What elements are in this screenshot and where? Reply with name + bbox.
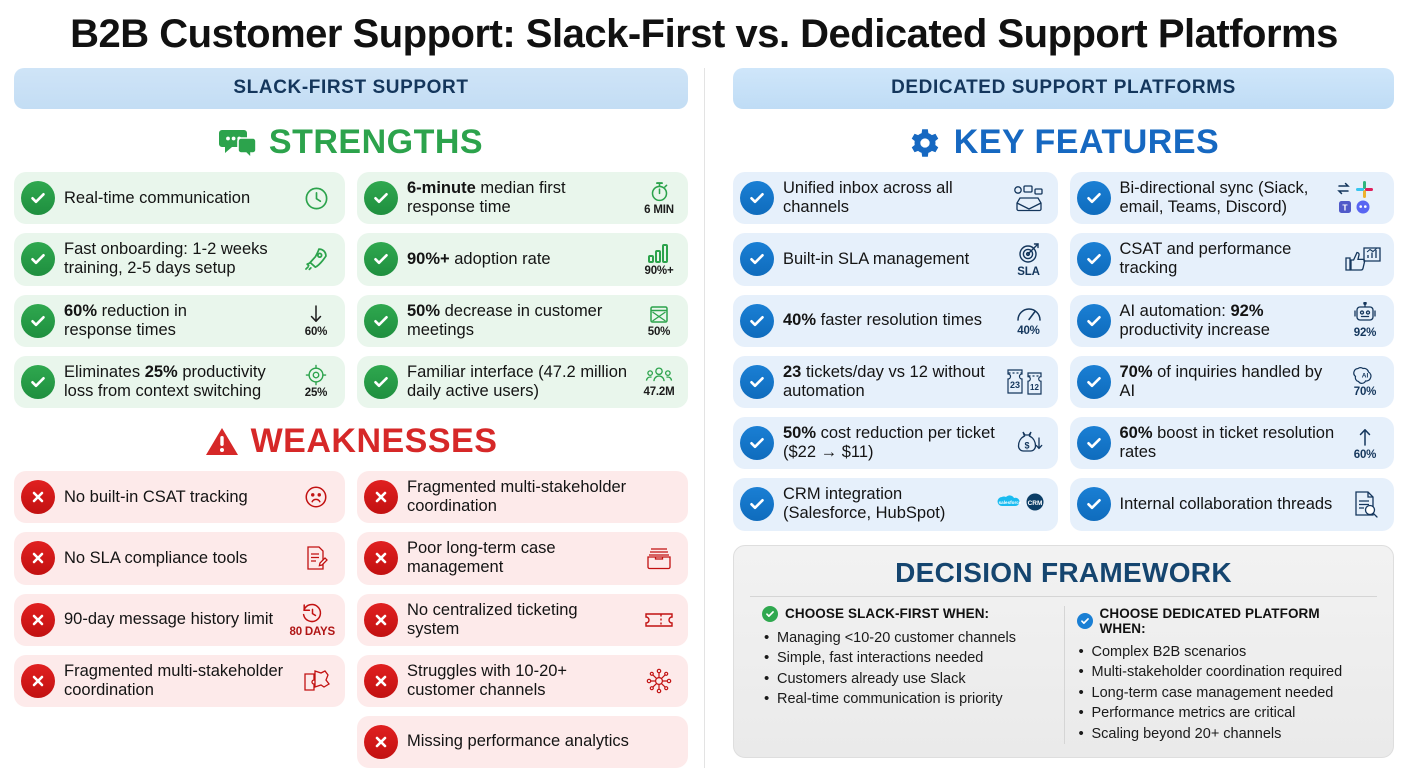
list-item: Bi-directional sync (Siack, email, Teams…: [1070, 172, 1395, 224]
check-circle-icon: [1077, 181, 1111, 215]
features-grid: Unified inbox across all channels Bi-dir…: [733, 172, 1394, 531]
list-item: Long-term case management needed: [1077, 683, 1366, 704]
network-hub-icon: [640, 668, 678, 694]
item-text: Built-in SLA management: [783, 250, 1001, 269]
puzzle-map-icon: [297, 668, 335, 694]
decision-framework-title: DECISION FRAMEWORK: [750, 557, 1377, 596]
decision-column-slack: CHOOSE SLACK-FIRST WHEN: Managing <10-20…: [750, 606, 1064, 745]
up-arrow-icon: 60%: [1346, 426, 1384, 461]
check-circle-icon: [740, 242, 774, 276]
sad-face-icon: [297, 484, 335, 510]
item-text: No centralized ticketing system: [407, 601, 631, 639]
item-text: 60% reduction inresponse times: [64, 302, 288, 340]
check-circle-icon: [740, 181, 774, 215]
x-circle-icon: [364, 603, 398, 637]
icon-label: 60%: [305, 326, 327, 338]
item-text: Missing performance analytics: [407, 732, 678, 751]
list-item: 50% decrease in customer meetings 50%: [357, 295, 688, 347]
item-text: Struggles with 10-20+ customer channels: [407, 662, 631, 700]
check-circle-icon: [740, 365, 774, 399]
money-bag-down-icon: $: [1010, 430, 1048, 456]
item-text: CSAT and performance tracking: [1120, 240, 1334, 278]
icon-label: SLA: [1017, 266, 1039, 278]
x-circle-icon: [364, 480, 398, 514]
check-circle-icon: [21, 365, 55, 399]
target-arrow-icon: SLA: [1010, 241, 1048, 278]
decision-head-label: CHOOSE SLACK-FIRST WHEN:: [785, 606, 989, 621]
list-item: Poor long-term case management: [357, 532, 688, 584]
list-item: Performance metrics are critical: [1077, 703, 1366, 724]
item-text: Poor long-term case management: [407, 539, 631, 577]
icon-label: 25%: [305, 387, 327, 399]
decision-head-slack: CHOOSE SLACK-FIRST WHEN:: [762, 606, 1052, 622]
two-column-layout: SLACK-FIRST SUPPORT STRENGTHS: [0, 68, 1408, 768]
strengths-label: STRENGTHS: [269, 123, 483, 162]
page-title: B2B Customer Support: Slack-First vs. De…: [0, 0, 1408, 56]
file-box-icon: [640, 546, 678, 570]
x-circle-icon: [21, 541, 55, 575]
check-circle-icon: [21, 304, 55, 338]
item-text: 50% cost reduction per ticket ($22 → $11…: [783, 424, 1001, 462]
list-item: Fragmented multi-stakeholder coordinatio…: [14, 655, 345, 707]
list-item: AI automation: 92% productivity increase…: [1070, 295, 1395, 347]
check-circle-icon: [740, 487, 774, 521]
clock-icon: [297, 185, 335, 212]
x-circle-icon: [364, 725, 398, 759]
svg-text:T: T: [1342, 203, 1348, 213]
list-item: Missing performance analytics: [357, 716, 688, 768]
check-circle-icon: [1077, 365, 1111, 399]
svg-text:salesforce: salesforce: [998, 500, 1021, 505]
x-circle-icon: [364, 541, 398, 575]
svg-text:23: 23: [1009, 380, 1019, 390]
icon-label: 70%: [1354, 386, 1376, 398]
strengths-grid: Real-time communication 6-minute median …: [14, 172, 688, 408]
list-item: Unified inbox across all channels: [733, 172, 1058, 224]
gear-icon: [908, 126, 942, 160]
strengths-section-title: STRENGTHS: [14, 123, 688, 162]
item-text: 90%+ adoption rate: [407, 250, 631, 269]
list-item: Managing <10-20 customer channels: [762, 628, 1052, 649]
stopwatch-icon: 6 MIN: [640, 180, 678, 216]
ai-brain-icon: AI 70%: [1346, 365, 1384, 398]
check-circle-icon: [1077, 426, 1111, 460]
inbox-envelope-icon: [1010, 184, 1048, 212]
calendar-cross-icon: 50%: [640, 303, 678, 338]
right-column-dedicated: DEDICATED SUPPORT PLATFORMS KEY FEATURES: [704, 68, 1394, 768]
list-item: Struggles with 10-20+ customer channels: [357, 655, 688, 707]
warning-triangle-icon: [205, 426, 239, 457]
list-item: Internal collaboration threads: [1070, 478, 1395, 530]
item-text: Bi-directional sync (Siack, email, Teams…: [1120, 179, 1328, 217]
item-text: 90-day message history limit: [64, 610, 281, 629]
check-circle-icon: [364, 365, 398, 399]
document-search-icon: [1346, 490, 1384, 518]
x-circle-icon: [21, 603, 55, 637]
list-item: CRM integration (Salesforce, HubSpot) sa…: [733, 478, 1058, 530]
svg-text:CRM: CRM: [1027, 500, 1042, 507]
check-circle-icon: [364, 304, 398, 338]
speedometer-icon: 40%: [1010, 304, 1048, 337]
item-text: Fragmented multi-stakeholder coordinatio…: [64, 662, 288, 700]
item-text: 70% of inquiries handled by AI: [1120, 363, 1338, 401]
decision-column-dedicated: CHOOSE DEDICATED PLATFORM WHEN: Complex …: [1064, 606, 1378, 745]
list-item: Familiar interface (47.2 million daily a…: [357, 356, 688, 408]
check-circle-icon: [762, 606, 778, 622]
list-item: 23 tickets/day vs 12 without automation …: [733, 356, 1058, 408]
decision-columns: CHOOSE SLACK-FIRST WHEN: Managing <10-20…: [750, 606, 1377, 745]
x-circle-icon: [21, 480, 55, 514]
list-item: Eliminates 25% productivity loss from co…: [14, 356, 345, 408]
item-text: 23 tickets/day vs 12 without automation: [783, 363, 995, 401]
icon-label: 90%+: [645, 265, 674, 277]
list-item: 90%+ adoption rate 90%+: [357, 233, 688, 285]
item-text: Real-time communication: [64, 189, 288, 208]
right-panel-header: DEDICATED SUPPORT PLATFORMS: [733, 68, 1394, 109]
list-item: 60% boost in ticket resolution rates 60%: [1070, 417, 1395, 469]
divider: [750, 596, 1377, 597]
list-item: Scaling beyond 20+ channels: [1077, 724, 1366, 745]
check-circle-icon: [740, 304, 774, 338]
document-pencil-icon: [297, 544, 335, 572]
list-item: 90-day message history limit 80 DAYS: [14, 594, 345, 646]
bar-chart-icon: 90%+: [640, 242, 678, 277]
features-section-title: KEY FEATURES: [733, 123, 1394, 162]
infographic-page: B2B Customer Support: Slack-First vs. De…: [0, 0, 1408, 768]
icon-label: 47.2M: [644, 386, 675, 398]
robot-icon: 92%: [1346, 302, 1384, 339]
svg-text:12: 12: [1030, 383, 1039, 392]
list-item: 60% reduction inresponse times 60%: [14, 295, 345, 347]
check-circle-icon: [1077, 487, 1111, 521]
item-text: No built-in CSAT tracking: [64, 488, 288, 507]
list-item: No centralized ticketing system: [357, 594, 688, 646]
decision-list-dedicated: Complex B2B scenarios Multi-stakeholder …: [1077, 642, 1366, 745]
check-circle-icon: [364, 181, 398, 215]
icon-label: 6 MIN: [644, 204, 674, 216]
item-text: Fast onboarding: 1-2 weeks training, 2-5…: [64, 240, 288, 278]
ticket-icon: [640, 610, 678, 630]
decision-list-slack: Managing <10-20 customer channels Simple…: [762, 628, 1052, 710]
item-text: Internal collaboration threads: [1120, 495, 1338, 514]
icon-label: 92%: [1354, 327, 1376, 339]
users-group-icon: 47.2M: [640, 365, 678, 398]
item-text: Eliminates 25% productivity loss from co…: [64, 363, 288, 401]
list-item: No SLA compliance tools: [14, 532, 345, 584]
list-item: Built-in SLA management SLA: [733, 233, 1058, 285]
item-text: 6-minute median first response time: [407, 179, 631, 217]
x-circle-icon: [364, 664, 398, 698]
target-icon: 25%: [297, 364, 335, 399]
list-item: CSAT and performance tracking: [1070, 233, 1395, 285]
sync-apps-icon: T: [1336, 180, 1384, 216]
list-item: Complex B2B scenarios: [1077, 642, 1366, 663]
icon-label: 40%: [1017, 325, 1039, 337]
icon-label: 80 DAYS: [290, 626, 335, 638]
check-circle-icon: [1077, 242, 1111, 276]
list-item: Fragmented multi-stakeholder coordinatio…: [357, 471, 688, 523]
icon-label: 50%: [648, 326, 670, 338]
down-arrow-icon: 60%: [297, 303, 335, 338]
list-item: Customers already use Slack: [762, 669, 1052, 690]
rocket-icon: [297, 245, 335, 273]
weaknesses-grid: No built-in CSAT tracking Fragmented mul…: [14, 471, 688, 768]
list-item: 40% faster resolution times 40%: [733, 295, 1058, 347]
two-tickets-icon: 23 12: [1004, 367, 1048, 397]
list-item: 50% cost reduction per ticket ($22 → $11…: [733, 417, 1058, 469]
weaknesses-label: WEAKNESSES: [251, 422, 498, 461]
weaknesses-section-title: WEAKNESSES: [14, 422, 688, 461]
list-item: Real-time communication is priority: [762, 689, 1052, 710]
decision-head-label: CHOOSE DEDICATED PLATFORM WHEN:: [1100, 606, 1366, 636]
item-text: 50% decrease in customer meetings: [407, 302, 631, 340]
check-circle-icon: [21, 181, 55, 215]
features-label: KEY FEATURES: [954, 123, 1219, 162]
item-text: Familiar interface (47.2 million daily a…: [407, 363, 631, 401]
x-circle-icon: [21, 664, 55, 698]
svg-text:AI: AI: [1362, 373, 1369, 380]
list-item: Real-time communication: [14, 172, 345, 224]
list-item: 6-minute median first response time 6 MI…: [357, 172, 688, 224]
list-item: Simple, fast interactions needed: [762, 648, 1052, 669]
list-item: 70% of inquiries handled by AI AI 70%: [1070, 356, 1395, 408]
chat-bubbles-icon: [219, 127, 257, 159]
list-item: Fast onboarding: 1-2 weeks training, 2-5…: [14, 233, 345, 285]
svg-text:$: $: [1024, 441, 1029, 451]
icon-label: 60%: [1354, 449, 1376, 461]
history-clock-icon: 80 DAYS: [290, 601, 335, 638]
check-circle-icon: [740, 426, 774, 460]
item-text: Fragmented multi-stakeholder coordinatio…: [407, 478, 678, 516]
list-item: Multi-stakeholder coordination required: [1077, 662, 1366, 683]
check-circle-icon: [364, 242, 398, 276]
thumbs-up-chart-icon: [1342, 244, 1384, 274]
item-text: AI automation: 92% productivity increase: [1120, 302, 1338, 340]
item-text: 40% faster resolution times: [783, 311, 1001, 330]
check-circle-icon: [21, 242, 55, 276]
left-column-slack-first: SLACK-FIRST SUPPORT STRENGTHS: [14, 68, 704, 768]
item-text: CRM integration (Salesforce, HubSpot): [783, 485, 987, 523]
list-item: No built-in CSAT tracking: [14, 471, 345, 523]
check-circle-icon: [1077, 304, 1111, 338]
decision-framework-panel: DECISION FRAMEWORK CHOOSE SLACK-FIRST WH…: [733, 545, 1394, 759]
left-panel-header: SLACK-FIRST SUPPORT: [14, 68, 688, 109]
check-circle-icon: [1077, 613, 1093, 629]
item-text: No SLA compliance tools: [64, 549, 288, 568]
item-text: 60% boost in ticket resolution rates: [1120, 424, 1338, 462]
crm-logos-icon: salesforce CRM: [996, 492, 1048, 516]
item-text: Unified inbox across all channels: [783, 179, 1001, 217]
decision-head-dedicated: CHOOSE DEDICATED PLATFORM WHEN:: [1077, 606, 1366, 636]
